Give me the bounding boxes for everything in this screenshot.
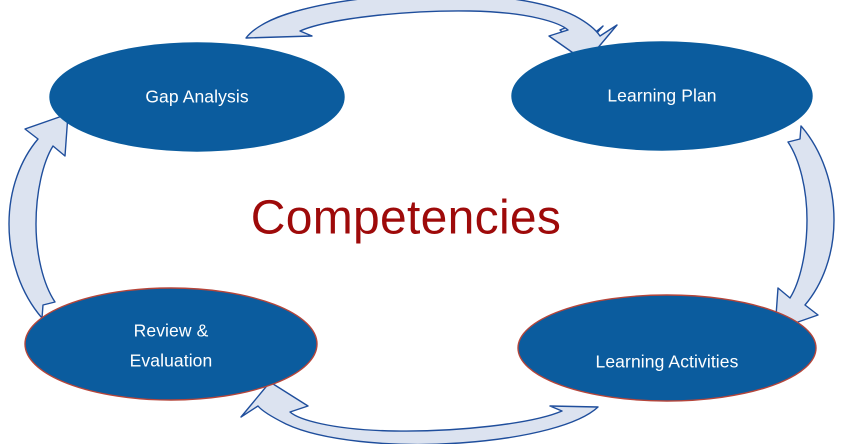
arrow-right-plan-to-activities (775, 126, 834, 330)
gap-analysis-label: Gap Analysis (145, 87, 248, 107)
competencies-cycle-diagram: Gap Analysis Learning Plan Learning Acti… (0, 0, 843, 444)
node-review-evaluation[interactable]: Review & Evaluation (25, 288, 317, 400)
review-evaluation-label-line1: Review & (134, 321, 209, 341)
review-evaluation-label-line2: Evaluation (130, 351, 213, 371)
arrow-bottom-activities-to-review (241, 382, 598, 444)
node-gap-analysis[interactable]: Gap Analysis (50, 43, 344, 151)
review-evaluation-ellipse[interactable] (25, 288, 317, 400)
node-learning-activities[interactable]: Learning Activities (518, 295, 816, 401)
learning-activities-ellipse[interactable] (518, 295, 816, 401)
learning-activities-label: Learning Activities (596, 352, 739, 372)
center-title: Competencies (251, 192, 561, 245)
learning-plan-label: Learning Plan (607, 86, 716, 106)
cycle-diagram-svg: Gap Analysis Learning Plan Learning Acti… (0, 0, 843, 444)
arrow-left-review-to-gap (9, 114, 68, 318)
node-learning-plan[interactable]: Learning Plan (512, 42, 812, 150)
